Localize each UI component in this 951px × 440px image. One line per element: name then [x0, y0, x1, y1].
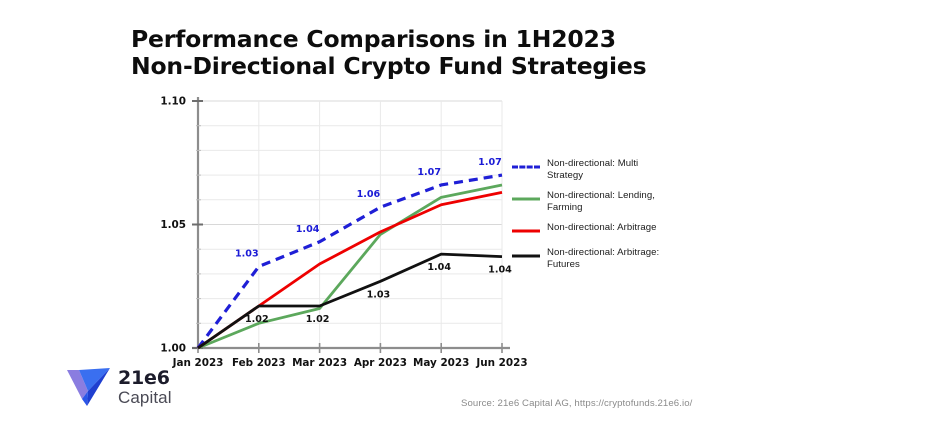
- legend-label-lending_farming: Non-directional: Lending, Farming: [547, 190, 672, 213]
- data-label-multi_strategy-5: 1.07: [478, 157, 502, 168]
- legend-item-arbitrage_futures[interactable]: Non-directional: Arbitrage: Futures: [512, 247, 672, 270]
- x-tick-label: Jan 2023: [172, 357, 224, 369]
- logo-mark-icon: [66, 366, 112, 408]
- data-label-multi_strategy-3: 1.06: [357, 189, 381, 200]
- data-label-arbitrage_futures-3: 1.03: [367, 289, 391, 300]
- legend-swatch-arbitrage: [512, 224, 540, 238]
- y-tick-label: 1.10: [160, 96, 186, 108]
- data-label-arbitrage_futures-4: 1.04: [427, 262, 451, 273]
- brand-logo: 21e6 Capital: [66, 366, 172, 408]
- legend-item-arbitrage[interactable]: Non-directional: Arbitrage: [512, 222, 672, 238]
- data-label-arbitrage_futures-1: 1.02: [245, 314, 269, 325]
- data-label-arbitrage_futures-2: 1.02: [306, 314, 330, 325]
- x-tick-label: Jun 2023: [475, 357, 527, 369]
- legend-swatch-arbitrage_futures: [512, 249, 540, 263]
- legend-label-arbitrage: Non-directional: Arbitrage: [547, 222, 657, 234]
- source-note: Source: 21e6 Capital AG, https://cryptof…: [461, 398, 692, 409]
- tick-labels: 1.001.051.10Jan 2023Feb 2023Mar 2023Apr …: [160, 96, 527, 369]
- x-tick-label: Mar 2023: [292, 357, 347, 369]
- legend-swatch-multi_strategy: [512, 160, 540, 174]
- data-label-multi_strategy-4: 1.07: [417, 167, 441, 178]
- logo-name: 21e6: [118, 369, 172, 388]
- data-label-arbitrage_futures-5: 1.04: [488, 265, 512, 276]
- data-label-multi_strategy-1: 1.03: [235, 248, 259, 259]
- logo-subtitle: Capital: [118, 389, 172, 406]
- y-tick-label: 1.05: [160, 219, 186, 231]
- logo-text: 21e6 Capital: [118, 369, 172, 406]
- chart-legend: Non-directional: Multi StrategyNon-direc…: [512, 158, 672, 280]
- x-tick-label: Feb 2023: [232, 357, 286, 369]
- legend-item-multi_strategy[interactable]: Non-directional: Multi Strategy: [512, 158, 672, 181]
- series-lines: [198, 175, 502, 348]
- slide-canvas: Performance Comparisons in 1H2023 Non-Di…: [0, 0, 951, 440]
- y-tick-label: 1.00: [160, 343, 186, 355]
- legend-label-multi_strategy: Non-directional: Multi Strategy: [547, 158, 672, 181]
- data-label-multi_strategy-2: 1.04: [296, 224, 320, 235]
- legend-item-lending_farming[interactable]: Non-directional: Lending, Farming: [512, 190, 672, 213]
- x-tick-label: May 2023: [413, 357, 469, 369]
- legend-swatch-lending_farming: [512, 192, 540, 206]
- series-line-arbitrage_futures: [198, 254, 502, 348]
- legend-label-arbitrage_futures: Non-directional: Arbitrage: Futures: [547, 247, 672, 270]
- x-tick-label: Apr 2023: [354, 357, 407, 369]
